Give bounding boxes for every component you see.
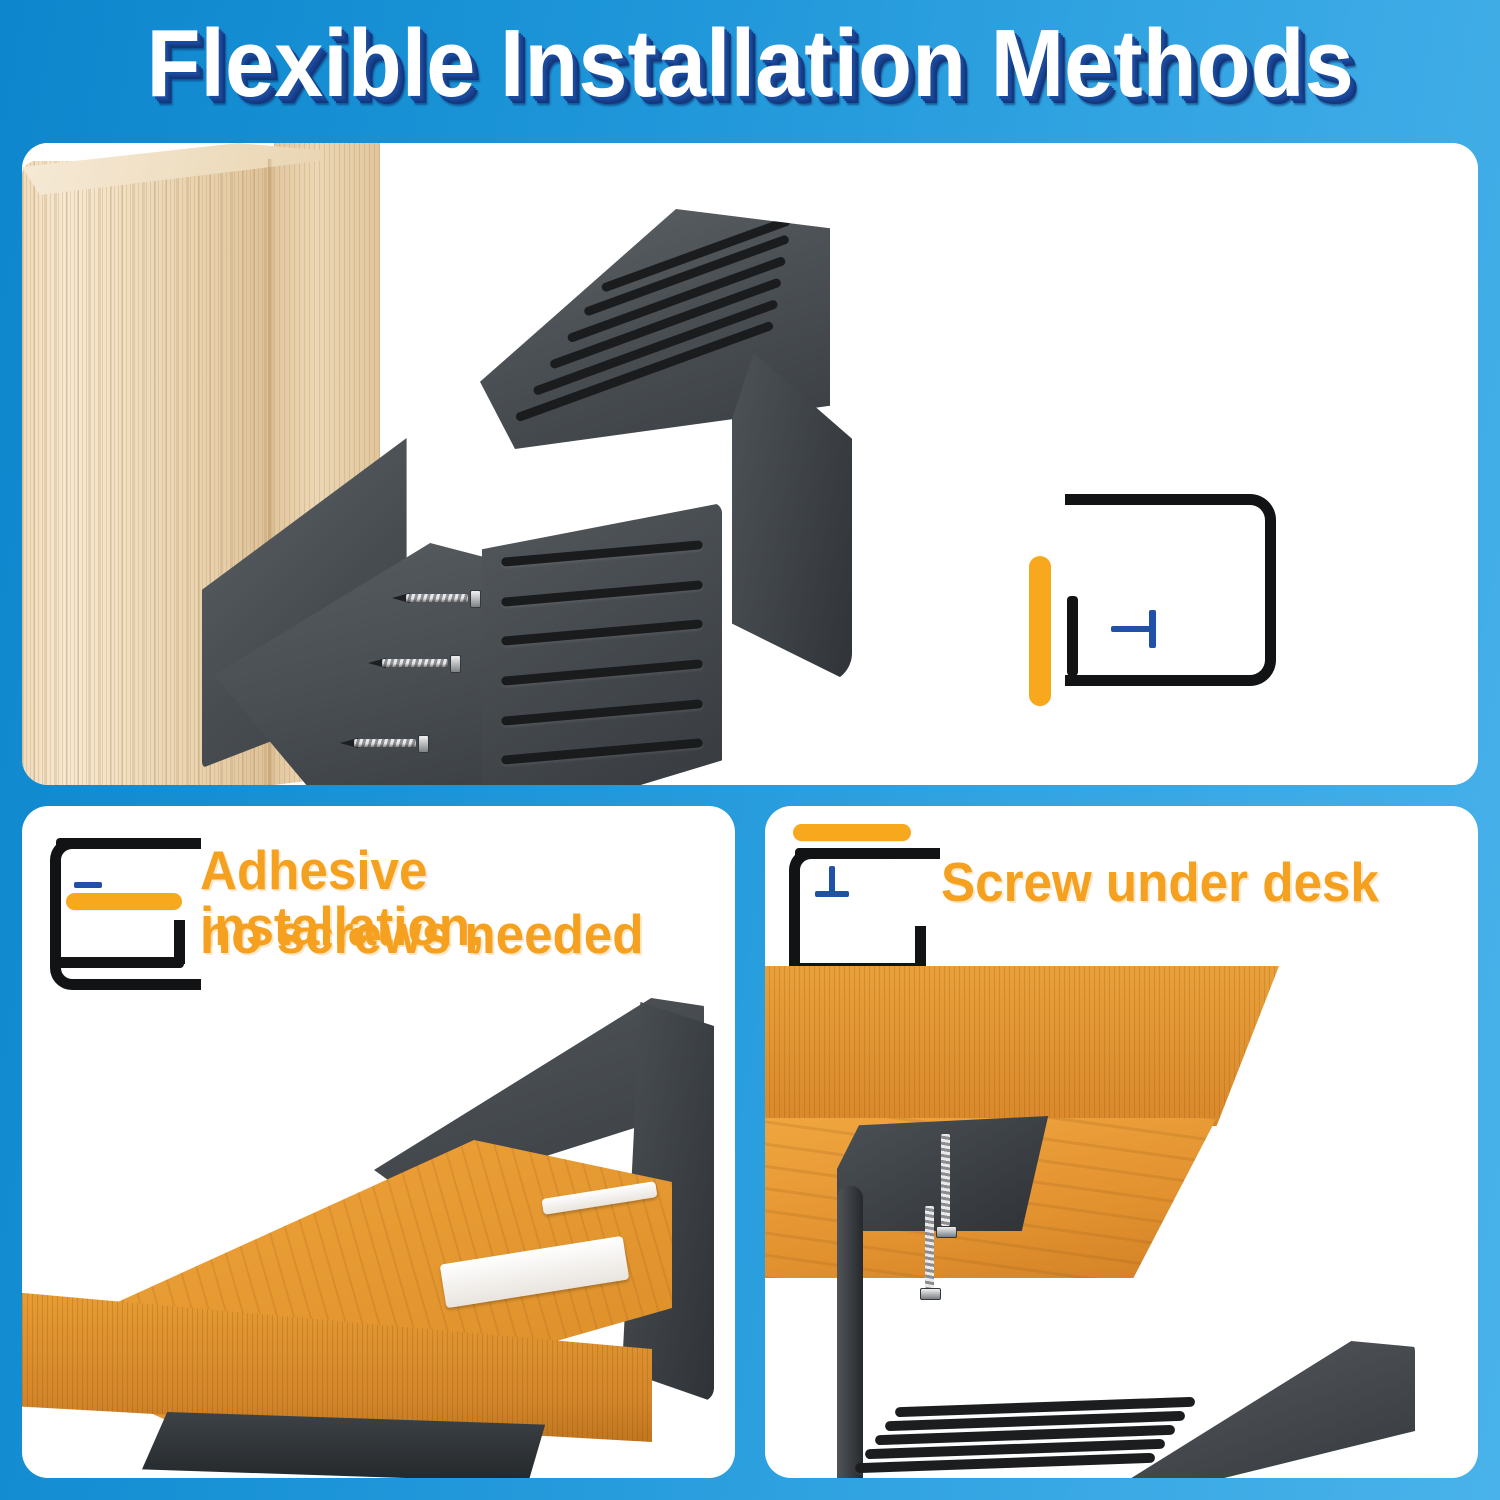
adhesive-strip-indicator (1029, 556, 1051, 706)
comb-slot (549, 278, 782, 370)
mounting-screw (340, 735, 434, 751)
screw-head (450, 655, 461, 673)
desk-edge-grain (765, 966, 1279, 1126)
adhesive-dash-indicator (74, 882, 102, 888)
screw-head (920, 1288, 941, 1300)
adhesive-caption-line-2: no screws needed (200, 906, 643, 962)
cable-tray-product (192, 203, 832, 785)
bracket-right-lip (174, 920, 185, 964)
screw-shank (925, 1206, 934, 1288)
page-title: Flexible Installation Methods (146, 16, 1353, 112)
screw-head (470, 590, 481, 608)
comb-slot (532, 299, 778, 396)
comb-slot (501, 659, 703, 686)
page-header: Flexible Installation Methods (0, 0, 1500, 128)
bracket-top-arm (795, 848, 891, 859)
comb-slot (501, 738, 703, 765)
tray-curved-spine (732, 353, 852, 683)
comb-slot (501, 620, 703, 647)
screw-shank (941, 1134, 950, 1226)
adhesive-schematic-icon (44, 834, 219, 979)
screw-head (418, 735, 429, 753)
screw-shank (354, 739, 416, 747)
tray-comb-slots (805, 1386, 1325, 1478)
adhesive-strip-indicator (793, 824, 911, 841)
comb-slot (600, 216, 791, 293)
comb-slot (501, 699, 703, 726)
screw-under-desk-photo (765, 956, 1478, 1478)
screw-shank (382, 659, 448, 667)
mounting-screw (368, 655, 466, 671)
mounting-screw (392, 590, 484, 606)
adhesive-strip-indicator (66, 893, 182, 910)
panel-screw-under-desk: Screw under desk (765, 806, 1478, 1478)
side-mount-photo (22, 143, 1478, 785)
comb-slot (501, 540, 703, 567)
screw-under-desk-caption: Screw under desk (941, 854, 1379, 910)
adhesive-photo (22, 992, 735, 1478)
bracket-outline (1065, 494, 1276, 686)
screw-shank (406, 594, 468, 602)
tray-front-comb-wall (482, 503, 722, 785)
screw-symbol-head (1149, 610, 1156, 648)
screw-head (936, 1226, 957, 1238)
side-mount-schematic-icon (1007, 488, 1267, 708)
screw-symbol-head (815, 891, 849, 897)
screw-symbol-shaft (829, 866, 835, 894)
bracket-bottom-arm (56, 957, 184, 968)
panel-side-mount (22, 143, 1478, 785)
comb-slot (501, 580, 703, 607)
bracket-top-arm (56, 838, 176, 849)
bracket-inner-lip (1067, 596, 1078, 676)
comb-slot (515, 321, 775, 423)
panel-adhesive: Adhesive installation, no screws needed (22, 806, 735, 1478)
